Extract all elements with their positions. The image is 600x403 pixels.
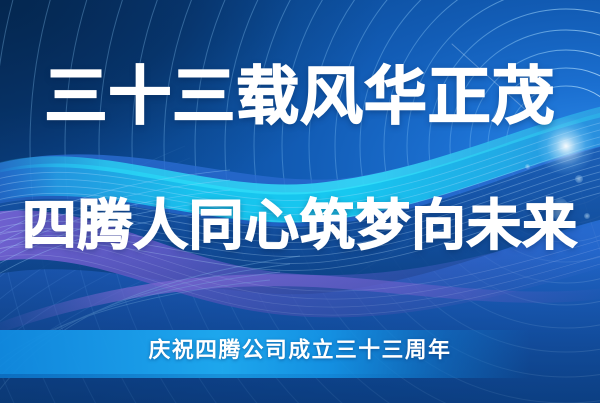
headline-line-2-container: 四腾人同心筑梦向未来 xyxy=(0,198,600,253)
subtitle-text: 庆祝四腾公司成立三十三周年 xyxy=(149,339,452,363)
subtitle-container: 庆祝四腾公司成立三十三周年 xyxy=(0,339,600,363)
headline-line-2: 四腾人同心筑梦向未来 xyxy=(22,193,578,257)
headline-line-1-container: 三十三载风华正茂 xyxy=(0,66,600,129)
lens-flare-dot-icon xyxy=(525,164,530,169)
anniversary-banner: 三十三载风华正茂 四腾人同心筑梦向未来 庆祝四腾公司成立三十三周年 xyxy=(0,0,600,403)
lens-flare-dot-icon xyxy=(575,175,583,183)
headline-line-1: 三十三载风华正茂 xyxy=(44,60,555,133)
